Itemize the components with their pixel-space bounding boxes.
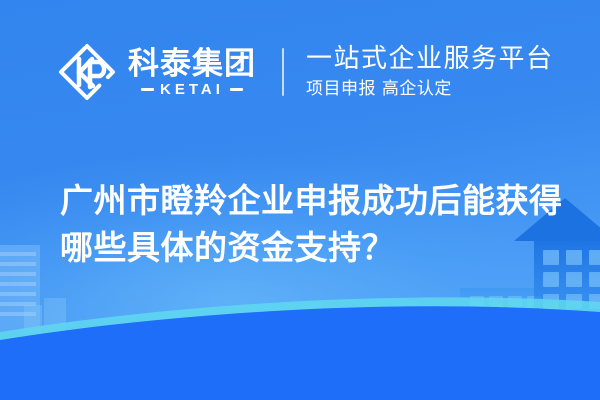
headline-line-1: 广州市瞪羚企业申报成功后能获得 [60, 177, 560, 224]
headline-line-2: 哪些具体的资金支持？ [60, 224, 560, 271]
dash-right-icon [230, 88, 243, 91]
brand-name-en: KETAI [160, 82, 224, 98]
promo-banner: 科泰集团 KETAI 一站式企业服务平台 项目申报 高企认定 广州市瞪羚企业申报… [0, 0, 600, 400]
banner-header: 科泰集团 KETAI 一站式企业服务平台 项目申报 高企认定 [56, 34, 554, 110]
tagline: 一站式企业服务平台 项目申报 高企认定 [306, 44, 554, 100]
tagline-sub: 项目申报 高企认定 [306, 78, 554, 100]
curved-wave-divider-icon [0, 260, 600, 400]
brand-name-en-row: KETAI [141, 82, 243, 98]
brand-name-cn: 科泰集团 [128, 47, 256, 81]
ketai-diamond-kp-logo-icon [56, 41, 118, 103]
brand-logo[interactable]: 科泰集团 KETAI [56, 41, 256, 103]
vertical-divider-icon [282, 48, 284, 96]
dash-left-icon [141, 88, 154, 91]
brand-wordmark: 科泰集团 KETAI [128, 47, 256, 98]
tagline-main: 一站式企业服务平台 [306, 44, 554, 75]
page-title: 广州市瞪羚企业申报成功后能获得 哪些具体的资金支持？ [60, 177, 560, 271]
